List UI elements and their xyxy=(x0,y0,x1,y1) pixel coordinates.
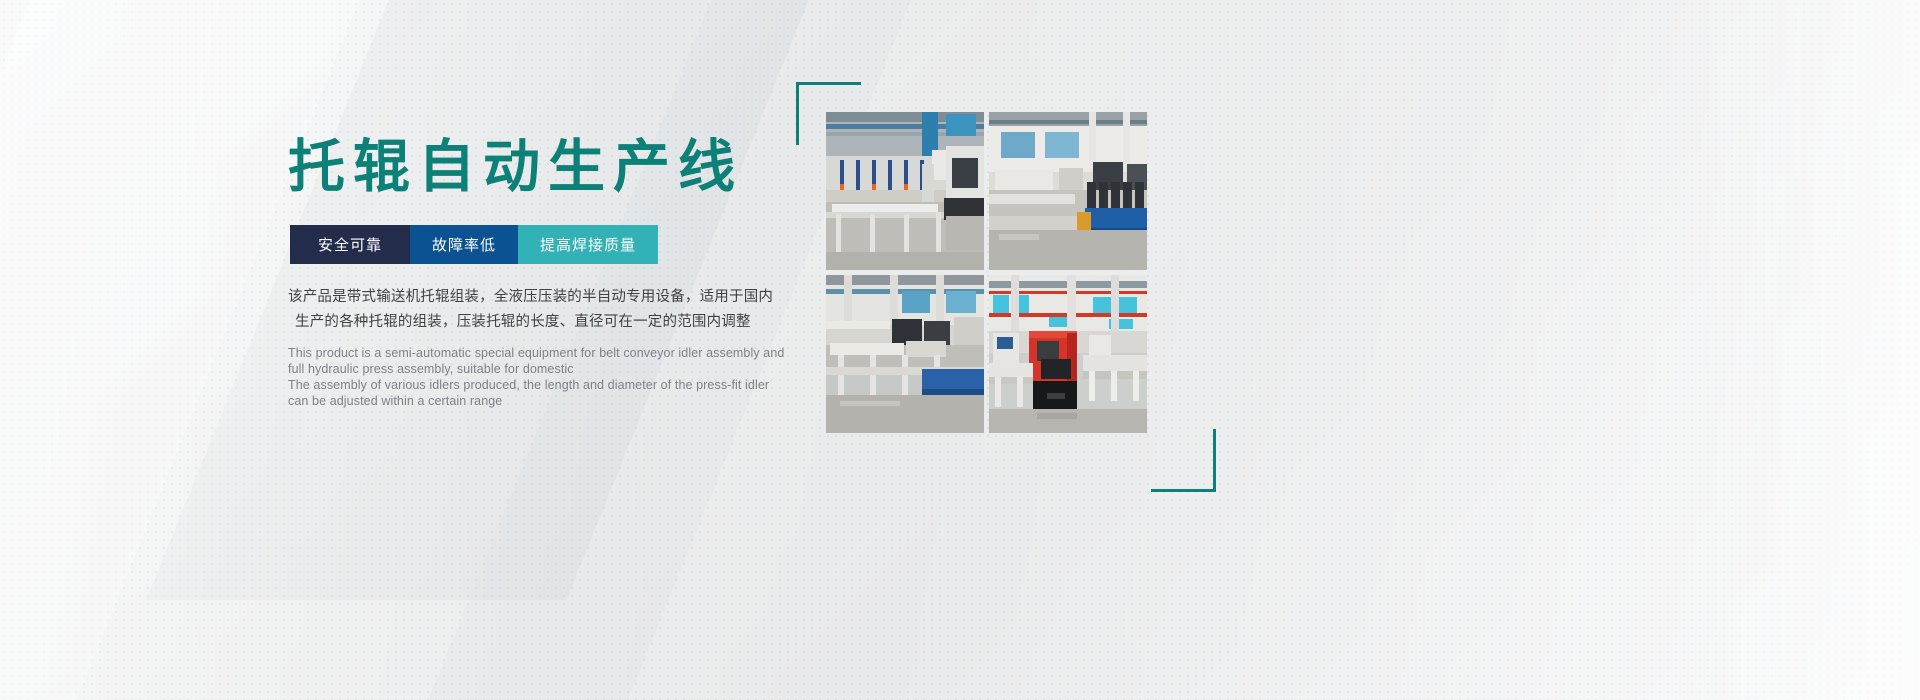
feature-tag-safety[interactable]: 安全可靠 xyxy=(290,225,410,264)
description-english: This product is a semi-automatic special… xyxy=(288,345,758,409)
description-english-line-2: full hydraulic press assembly, suitable … xyxy=(288,361,758,377)
description-chinese-line-1: 该产品是带式输送机托辊组装，全液压压装的半自动专用设备，适用于国内 xyxy=(288,285,758,310)
red-welding-machine-photo[interactable] xyxy=(989,275,1147,433)
description-english-line-3: The assembly of various idlers produced,… xyxy=(288,377,758,393)
workshop-press-station-photo[interactable] xyxy=(989,112,1147,270)
page-title: 托辊自动生产线 xyxy=(288,139,743,196)
photo-grid xyxy=(826,112,1147,433)
right-edge-fade xyxy=(1690,0,1920,700)
product-banner: 托辊自动生产线 安全可靠 故障率低 提高焊接质量 该产品是带式输送机托辊组装，全… xyxy=(0,0,1920,700)
photo-collage xyxy=(796,82,1196,492)
description-chinese: 该产品是带式输送机托辊组装，全液压压装的半自动专用设备，适用于国内 生产的各种托… xyxy=(288,285,758,335)
corner-bracket-bottom-right-icon xyxy=(1151,429,1216,492)
feature-tag-failure[interactable]: 故障率低 xyxy=(410,225,518,264)
bracket-vertical-bar xyxy=(1213,429,1216,492)
feature-tag-weld[interactable]: 提高焊接质量 xyxy=(518,225,658,264)
assembly-machine-photo[interactable] xyxy=(826,275,984,433)
bracket-vertical-bar xyxy=(796,82,799,145)
bracket-horizontal-bar xyxy=(796,82,861,85)
description-chinese-line-2: 生产的各种托辊的组装，压装托辊的长度、直径可在一定的范围内调整 xyxy=(288,310,758,335)
feature-tag-list: 安全可靠 故障率低 提高焊接质量 xyxy=(290,225,658,264)
description-english-line-4: can be adjusted within a certain range xyxy=(288,393,758,409)
description-english-line-1: This product is a semi-automatic special… xyxy=(288,345,758,361)
bracket-horizontal-bar xyxy=(1151,489,1216,492)
idler-conveyor-line-photo[interactable] xyxy=(826,112,984,270)
